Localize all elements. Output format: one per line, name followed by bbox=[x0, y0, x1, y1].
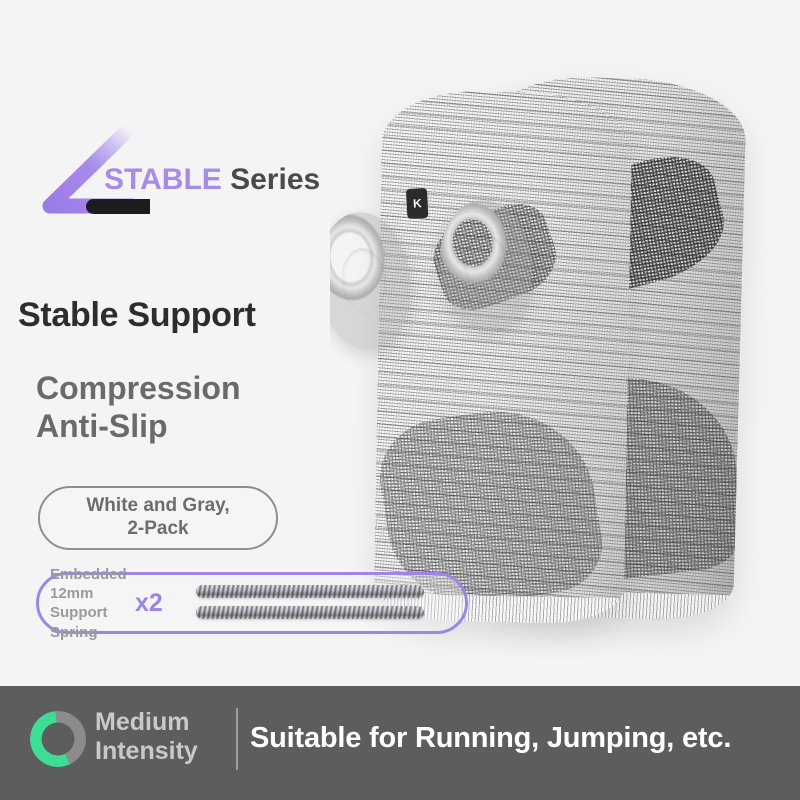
brand-name: STABLE Series bbox=[104, 163, 320, 197]
spring-label-line-1: Embedded bbox=[50, 565, 136, 584]
pack-badge: White and Gray, 2-Pack bbox=[38, 486, 278, 550]
brand-patch-icon: K bbox=[406, 188, 429, 219]
pack-badge-line-1: White and Gray, bbox=[86, 495, 229, 518]
brand-name-primary: STABLE bbox=[104, 163, 222, 196]
subheadline-line-1: Compression bbox=[36, 370, 240, 408]
support-spring-icon bbox=[196, 606, 424, 619]
page-title: Stable Support bbox=[18, 296, 256, 335]
spring-label-line-2: 12mm bbox=[50, 584, 136, 603]
support-spring-icon bbox=[196, 585, 424, 598]
knee-sleeve-front: K bbox=[373, 90, 632, 624]
suitable-activities-text: Suitable for Running, Jumping, etc. bbox=[250, 722, 731, 755]
product-marketing-image: K K bbox=[0, 0, 800, 800]
spring-quantity-multiplier: x2 bbox=[135, 589, 163, 618]
intensity-label-line-2: Intensity bbox=[95, 737, 198, 766]
intensity-label: Medium Intensity bbox=[95, 708, 198, 766]
spring-label-line-3: Support bbox=[50, 603, 136, 622]
pack-badge-line-2: 2-Pack bbox=[86, 518, 229, 541]
subheadline: Compression Anti-Slip bbox=[36, 370, 240, 446]
spring-badge-label: Embedded 12mm Support Spring bbox=[50, 565, 136, 642]
footer-divider bbox=[236, 708, 238, 770]
intensity-label-line-1: Medium bbox=[95, 708, 198, 737]
spring-label-line-4: Spring bbox=[50, 623, 136, 642]
intensity-ring-gauge-icon bbox=[30, 711, 86, 767]
brand-name-secondary: Series bbox=[222, 163, 320, 196]
subheadline-line-2: Anti-Slip bbox=[36, 408, 240, 446]
